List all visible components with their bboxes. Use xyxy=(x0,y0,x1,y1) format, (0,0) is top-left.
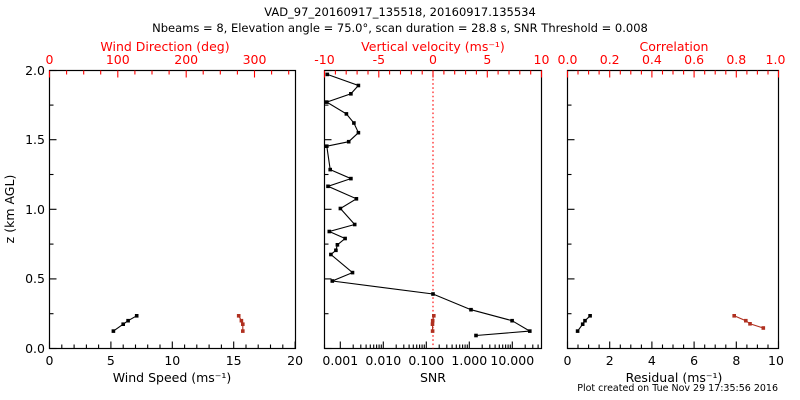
panel-residual-bottom-tick-4: 8 xyxy=(732,353,740,368)
panel-residual-bottom-tick-1: 2 xyxy=(606,353,614,368)
panel-residual-top-tick-0: 0.0 xyxy=(558,52,578,67)
panel-wind-bottom-tick-2: 10 xyxy=(164,353,180,368)
panel-snr-top-tick-3: 5 xyxy=(483,52,491,67)
panel-residual-top-tick-4: 0.8 xyxy=(726,52,746,67)
panel-residual-top-tick-3: 0.6 xyxy=(684,52,704,67)
figure-subtitle: Nbeams = 8, Elevation angle = 75.0°, sca… xyxy=(152,21,648,35)
panel-snr-bottom-axis-label: SNR xyxy=(420,370,446,385)
panel-wind-bottom-tick-0: 0 xyxy=(46,353,54,368)
panel-snr-bottom-tick-0: 0.001 xyxy=(322,353,358,368)
panel-snr-bottom-tick-2: 0.100 xyxy=(408,353,444,368)
panel-wind-bottom-tick-4: 20 xyxy=(287,353,303,368)
y-tick-2: 1.0 xyxy=(25,202,45,217)
panel-snr-top-tick-4: 10 xyxy=(534,52,550,67)
panel-residual-top-tick-2: 0.4 xyxy=(642,52,662,67)
panel-residual-top-tick-1: 0.2 xyxy=(600,52,620,67)
panel-residual-top-axis-label: Correlation xyxy=(640,39,709,54)
panel-wind-top-tick-0: 0 xyxy=(46,52,54,67)
y-tick-0: 0.0 xyxy=(25,341,45,356)
y-tick-1: 0.5 xyxy=(25,271,45,286)
panel-wind-bottom-axis-label: Wind Speed (ms⁻¹) xyxy=(113,370,232,385)
panel-snr-top-axis-label: Vertical velocity (ms⁻¹) xyxy=(361,39,505,54)
vad-plot-figure: VAD_97_20160917_135518, 20160917.135534 … xyxy=(0,0,800,400)
panel-snr-bottom-tick-4: 10.000 xyxy=(490,353,534,368)
panel-residual-bottom-tick-2: 4 xyxy=(648,353,656,368)
panel-residual-bottom-tick-3: 6 xyxy=(690,353,698,368)
panel-wind-bottom-tick-3: 15 xyxy=(226,353,242,368)
panel-wind-top-tick-3: 300 xyxy=(243,52,267,67)
panel-snr-top-tick-0: -10 xyxy=(314,52,334,67)
panel-snr-top-tick-2: 0 xyxy=(429,52,437,67)
panel-snr-top-tick-1: -5 xyxy=(373,52,385,67)
panel-snr-bottom-tick-3: 1.000 xyxy=(451,353,487,368)
figure-title: VAD_97_20160917_135518, 20160917.135534 xyxy=(264,5,536,19)
y-tick-4: 2.0 xyxy=(25,63,45,78)
panel-wind-top-axis-label: Wind Direction (deg) xyxy=(100,39,229,54)
y-axis-label: z (km AGL) xyxy=(2,175,17,244)
panel-wind-top-tick-1: 100 xyxy=(106,52,130,67)
panel-snr-bottom-tick-1: 0.010 xyxy=(365,353,401,368)
panel-wind-top-tick-2: 200 xyxy=(174,52,198,67)
plot-created-stamp: Plot created on Tue Nov 29 17:35:56 2016 xyxy=(577,383,778,394)
panel-residual-bottom-tick-5: 10 xyxy=(768,353,784,368)
panel-wind-bottom-tick-1: 5 xyxy=(107,353,115,368)
y-tick-3: 1.5 xyxy=(25,132,45,147)
plot-canvas: VAD_97_20160917_135518, 20160917.135534 … xyxy=(0,0,800,400)
panel-residual-top-tick-5: 1.0 xyxy=(766,52,786,67)
panel-residual-bottom-tick-0: 0 xyxy=(564,353,572,368)
